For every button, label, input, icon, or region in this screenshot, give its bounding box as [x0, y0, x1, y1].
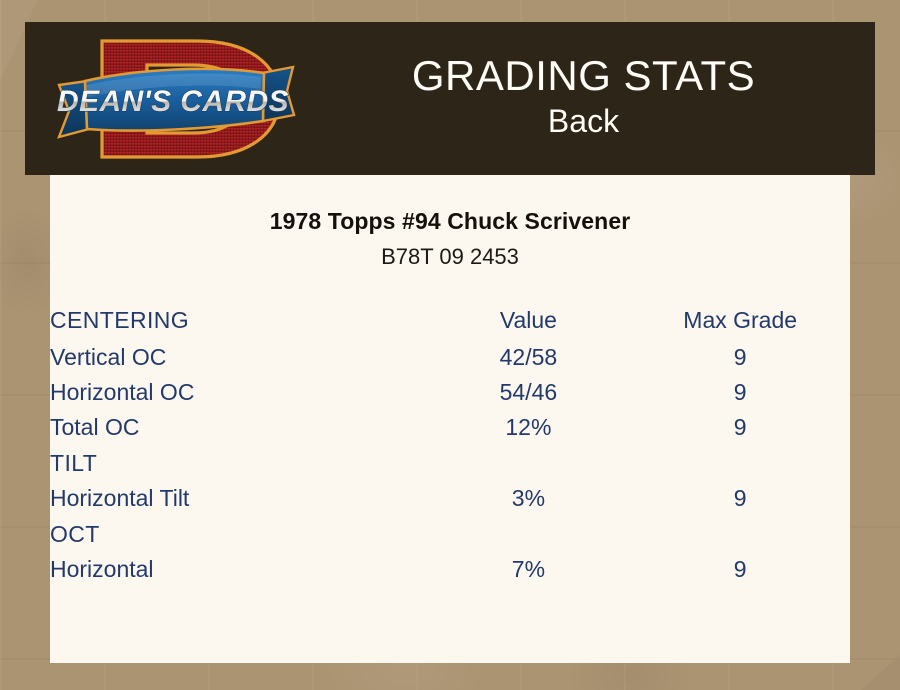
section-max-grade-spacer: [630, 516, 850, 552]
page-subtitle: Back: [302, 101, 865, 143]
stat-value: 42/58: [426, 340, 630, 375]
header-title-group: GRADING STATS Back: [302, 54, 875, 143]
logo-svg: DEAN'S CARDS: [47, 29, 302, 169]
section-value-spacer: [426, 445, 630, 481]
stat-value: 7%: [426, 552, 630, 587]
stat-label: Horizontal Tilt: [50, 481, 426, 516]
stat-label: Horizontal OC: [50, 375, 426, 410]
table-row: Horizontal Tilt3%9: [50, 481, 850, 516]
table-row: Total OC12%9: [50, 410, 850, 445]
stat-max-grade: 9: [630, 410, 850, 445]
stat-value: 54/46: [426, 375, 630, 410]
stat-value: 12%: [426, 410, 630, 445]
stat-label: Horizontal: [50, 552, 426, 587]
column-header-value: Value: [426, 300, 630, 340]
card-serial-number: B78T 09 2453: [50, 244, 850, 270]
section-value-spacer: [426, 516, 630, 552]
stat-label: Total OC: [50, 410, 426, 445]
section-title: TILT: [50, 445, 426, 481]
stat-max-grade: 9: [630, 340, 850, 375]
section-header-row: TILT: [50, 445, 850, 481]
table-header-row: CENTERINGValueMax Grade: [50, 300, 850, 340]
page-title: GRADING STATS: [302, 54, 865, 98]
logo-wordmark: DEAN'S CARDS: [57, 85, 289, 118]
content-panel: 1978 Topps #94 Chuck Scrivener B78T 09 2…: [50, 175, 850, 663]
grading-stats-table: CENTERINGValueMax GradeVertical OC42/589…: [50, 300, 850, 587]
column-header-section: CENTERING: [50, 300, 426, 340]
deans-cards-logo[interactable]: DEAN'S CARDS: [47, 29, 302, 169]
table-row: Horizontal7%9: [50, 552, 850, 587]
section-title: OCT: [50, 516, 426, 552]
section-header-row: OCT: [50, 516, 850, 552]
stat-label: Vertical OC: [50, 340, 426, 375]
stat-max-grade: 9: [630, 481, 850, 516]
column-header-max-grade: Max Grade: [630, 300, 850, 340]
stat-value: 3%: [426, 481, 630, 516]
stat-max-grade: 9: [630, 375, 850, 410]
card-title: 1978 Topps #94 Chuck Scrivener: [50, 208, 850, 235]
table-row: Vertical OC42/589: [50, 340, 850, 375]
table-row: Horizontal OC54/469: [50, 375, 850, 410]
header-bar: DEAN'S CARDS GRADING STATS Back: [25, 22, 875, 175]
stat-max-grade: 9: [630, 552, 850, 587]
section-max-grade-spacer: [630, 445, 850, 481]
